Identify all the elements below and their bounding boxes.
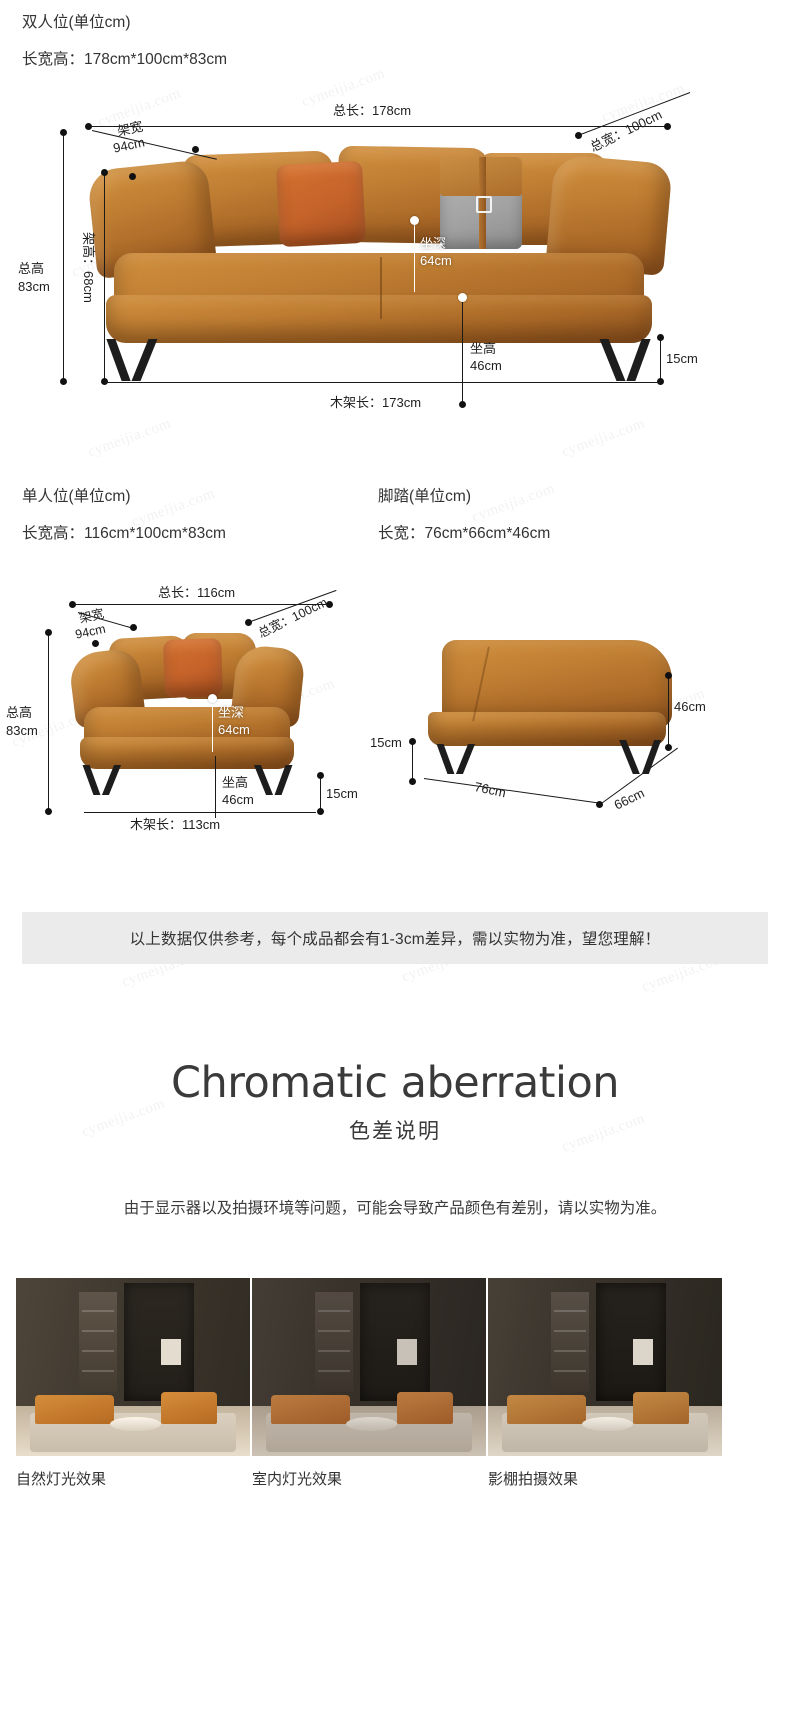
two-seat-title: 双人位(单位cm) — [22, 10, 131, 32]
dim-endpoint-dot — [129, 173, 136, 180]
dim-endpoint-dot — [317, 772, 324, 779]
dim-total-length-label: 总长：116cm — [158, 586, 235, 601]
dim-wood-frame-line — [84, 812, 316, 813]
dim-wood-frame-label: 木架长：113cm — [130, 818, 220, 833]
dim-seat-height-line — [462, 297, 463, 405]
dim-wood-frame-line — [104, 382, 660, 383]
dim-total-length-label: 总长：178cm — [333, 104, 411, 119]
dim-total-length-line — [88, 126, 668, 127]
dim-frame-height-line — [104, 172, 105, 382]
dim-endpoint-dot — [665, 672, 672, 679]
dim-endpoint-dot — [245, 619, 252, 626]
watermark: cymeijia.com — [470, 481, 558, 527]
watermark: cymeijia.com — [86, 416, 174, 462]
chromatic-title-cn: 色差说明 — [0, 1115, 790, 1145]
two-seat-spec: 长宽高：178cm*100cm*83cm — [22, 47, 227, 69]
dim-total-height-line — [63, 132, 64, 382]
dim-ottoman-leg-line — [412, 742, 413, 780]
disclaimer-text: 以上数据仅供参考，每个成品都会有1-3cm差异，需以实物为准，望您理解！ — [130, 927, 661, 949]
dim-endpoint-dot — [192, 146, 199, 153]
single-seat-spec: 长宽高：116cm*100cm*83cm — [22, 521, 226, 543]
dim-endpoint-dot — [60, 378, 67, 385]
dim-endpoint-dot — [69, 601, 76, 608]
dim-ottoman-height-label: 46cm — [674, 700, 706, 715]
dim-endpoint-dot — [130, 624, 137, 631]
dim-endpoint-dot — [596, 801, 603, 808]
dim-seat-depth-label-1: 坐深 — [420, 237, 446, 252]
ottoman-title: 脚踏(单位cm) — [378, 484, 471, 506]
dim-endpoint-dot — [665, 744, 672, 751]
dim-total-height-label-1: 总高 — [18, 262, 44, 277]
chromatic-title-en: Chromatic aberration — [0, 1058, 790, 1108]
ottoman-image — [420, 640, 680, 790]
photo-natural-light — [16, 1278, 250, 1456]
watermark: cymeijia.com — [560, 416, 648, 462]
dim-seat-height-label-2: 46cm — [222, 793, 254, 808]
dim-endpoint-dot — [60, 129, 67, 136]
disclaimer-banner: 以上数据仅供参考，每个成品都会有1-3cm差异，需以实物为准，望您理解！ — [22, 912, 768, 964]
dim-seat-depth-label-1: 坐深 — [218, 706, 244, 721]
dim-leg-height-line — [660, 338, 661, 382]
dim-endpoint-dot — [409, 778, 416, 785]
dim-seat-height-line — [215, 756, 216, 818]
two-seat-sofa-image — [88, 135, 668, 390]
dim-endpoint-dot — [459, 401, 466, 408]
dim-seat-height-label-1: 坐高 — [222, 776, 248, 791]
dim-ottoman-leg-label: 15cm — [370, 736, 402, 751]
photo-studio-shot — [488, 1278, 722, 1456]
dim-total-height-label-1: 总高 — [6, 706, 32, 721]
product-detail-page: cymeijia.com cymeijia.com cymeijia.com c… — [0, 0, 790, 1714]
dim-leg-height-label: 15cm — [326, 787, 358, 802]
dim-endpoint-dot — [409, 738, 416, 745]
single-seat-sofa-image — [72, 625, 302, 805]
photo-caption-studio: 影棚拍摄效果 — [488, 1468, 578, 1489]
dim-endpoint-dot — [410, 216, 419, 225]
dim-endpoint-dot — [85, 123, 92, 130]
ottoman-spec: 长宽：76cm*66cm*46cm — [378, 521, 550, 543]
dim-total-height-label-2: 83cm — [6, 724, 38, 739]
dim-wood-frame-label: 木架长：173cm — [330, 396, 421, 411]
chromatic-description: 由于显示器以及拍摄环境等问题，可能会导致产品颜色有差别，请以实物为准。 — [0, 1196, 790, 1218]
dim-seat-depth-label-2: 64cm — [420, 254, 452, 269]
dim-leg-height-label: 15cm — [666, 352, 698, 367]
dim-endpoint-dot — [45, 808, 52, 815]
dim-total-length-line — [72, 604, 330, 605]
dim-total-height-line — [48, 632, 49, 812]
photo-caption-natural: 自然灯光效果 — [16, 1468, 106, 1489]
dim-seat-depth-line — [212, 700, 213, 752]
dim-endpoint-dot — [208, 694, 217, 703]
dim-seat-depth-line — [414, 222, 415, 292]
dim-endpoint-dot — [664, 123, 671, 130]
dim-endpoint-dot — [458, 293, 467, 302]
dim-endpoint-dot — [101, 169, 108, 176]
dim-seat-depth-label-2: 64cm — [218, 723, 250, 738]
dim-seat-height-label-2: 46cm — [470, 359, 502, 374]
dim-ottoman-height-line — [668, 676, 669, 746]
dim-leg-height-line — [320, 776, 321, 812]
dim-endpoint-dot — [575, 132, 582, 139]
photo-indoor-light — [252, 1278, 486, 1456]
dim-seat-height-label-1: 坐高 — [470, 342, 496, 357]
dim-frame-height-label: 架高：68cm — [80, 232, 95, 303]
dim-endpoint-dot — [92, 640, 99, 647]
dim-endpoint-dot — [317, 808, 324, 815]
dim-total-height-label-2: 83cm — [18, 280, 50, 295]
dim-endpoint-dot — [45, 629, 52, 636]
dim-endpoint-dot — [657, 334, 664, 341]
photo-caption-indoor: 室内灯光效果 — [252, 1468, 342, 1489]
single-seat-title: 单人位(单位cm) — [22, 484, 131, 506]
